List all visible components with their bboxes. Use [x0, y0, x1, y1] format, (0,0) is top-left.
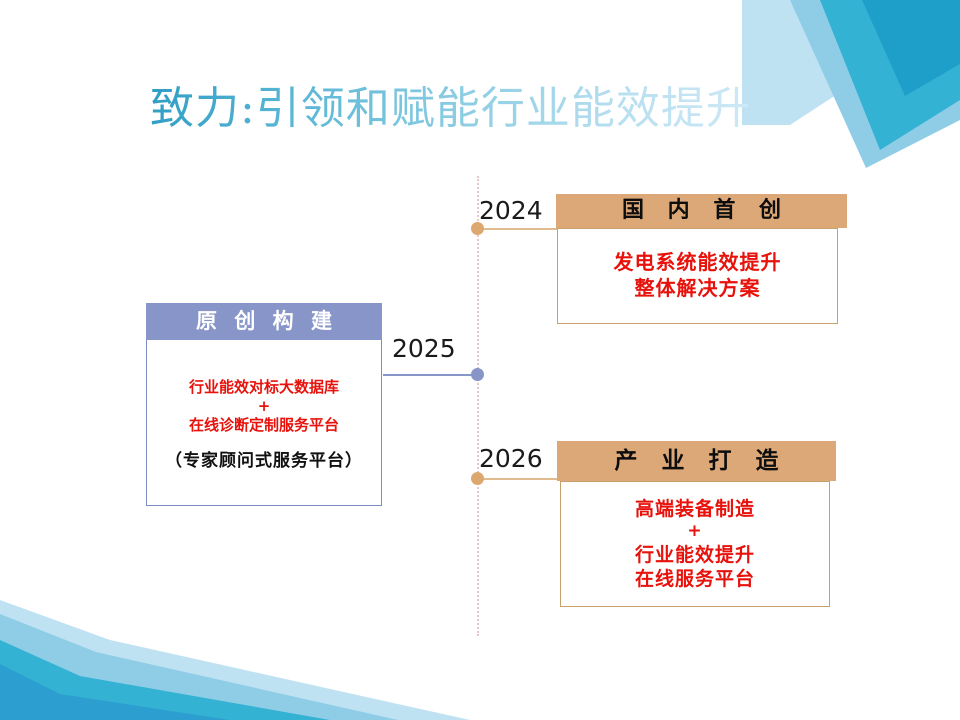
ribbon-top-mid [790, 0, 960, 168]
ribbon-bottom-mid [0, 614, 398, 720]
card-bottom-right-line-3: 行业能效提升 [635, 543, 755, 567]
card-domestic-first[interactable]: 国 内 首 创 发电系统能效提升 整体解决方案 [556, 194, 847, 324]
card-left-body: 行业能效对标大数据库 + 在线诊断定制服务平台 （专家顾问式服务平台） [146, 340, 382, 506]
card-top-right-header: 国 内 首 创 [556, 194, 847, 228]
timeline-node-2026[interactable] [471, 472, 484, 485]
connector-2026 [479, 478, 559, 480]
connector-2024 [479, 228, 559, 230]
timeline-axis [477, 176, 479, 636]
connector-2025 [383, 374, 483, 376]
year-label-2026: 2026 [479, 444, 543, 473]
ribbon-bottom-dark [0, 640, 330, 720]
card-bottom-right-line-1: 高端装备制造 [635, 497, 755, 521]
card-top-right-body: 发电系统能效提升 整体解决方案 [557, 228, 838, 324]
card-left-line-4: （专家顾问式服务平台） [165, 451, 363, 473]
card-top-right-line-1: 发电系统能效提升 [614, 250, 782, 276]
card-bottom-right-body: 高端装备制造 + 行业能效提升 在线服务平台 [560, 481, 830, 607]
timeline-node-2025[interactable] [471, 368, 484, 381]
ribbon-bottom-accent [0, 664, 230, 720]
card-left-line-3: 在线诊断定制服务平台 [189, 416, 339, 435]
ribbon-bottom-light [0, 600, 470, 720]
slide-canvas: 致力:引领和赋能行业能效提升 2024 2025 2026 原 创 构 建 行业… [0, 0, 960, 720]
card-left-line-2: + [258, 397, 271, 416]
ribbon-top-light [742, 0, 960, 125]
card-bottom-right-line-2: + [687, 521, 702, 543]
card-bottom-right-header: 产 业 打 造 [557, 441, 836, 481]
card-left-line-1: 行业能效对标大数据库 [189, 378, 339, 397]
ribbon-top-accent [862, 0, 960, 96]
card-top-right-line-2: 整体解决方案 [635, 276, 761, 302]
ribbon-top-dark [820, 0, 960, 150]
card-left-header: 原 创 构 建 [146, 303, 382, 340]
card-industry-building[interactable]: 产 业 打 造 高端装备制造 + 行业能效提升 在线服务平台 [557, 441, 836, 607]
card-bottom-right-line-4: 在线服务平台 [635, 567, 755, 591]
year-label-2025: 2025 [392, 334, 456, 363]
year-label-2024: 2024 [479, 196, 543, 225]
card-original-construction[interactable]: 原 创 构 建 行业能效对标大数据库 + 在线诊断定制服务平台 （专家顾问式服务… [146, 303, 382, 506]
page-title: 致力:引领和赋能行业能效提升 [150, 72, 751, 136]
